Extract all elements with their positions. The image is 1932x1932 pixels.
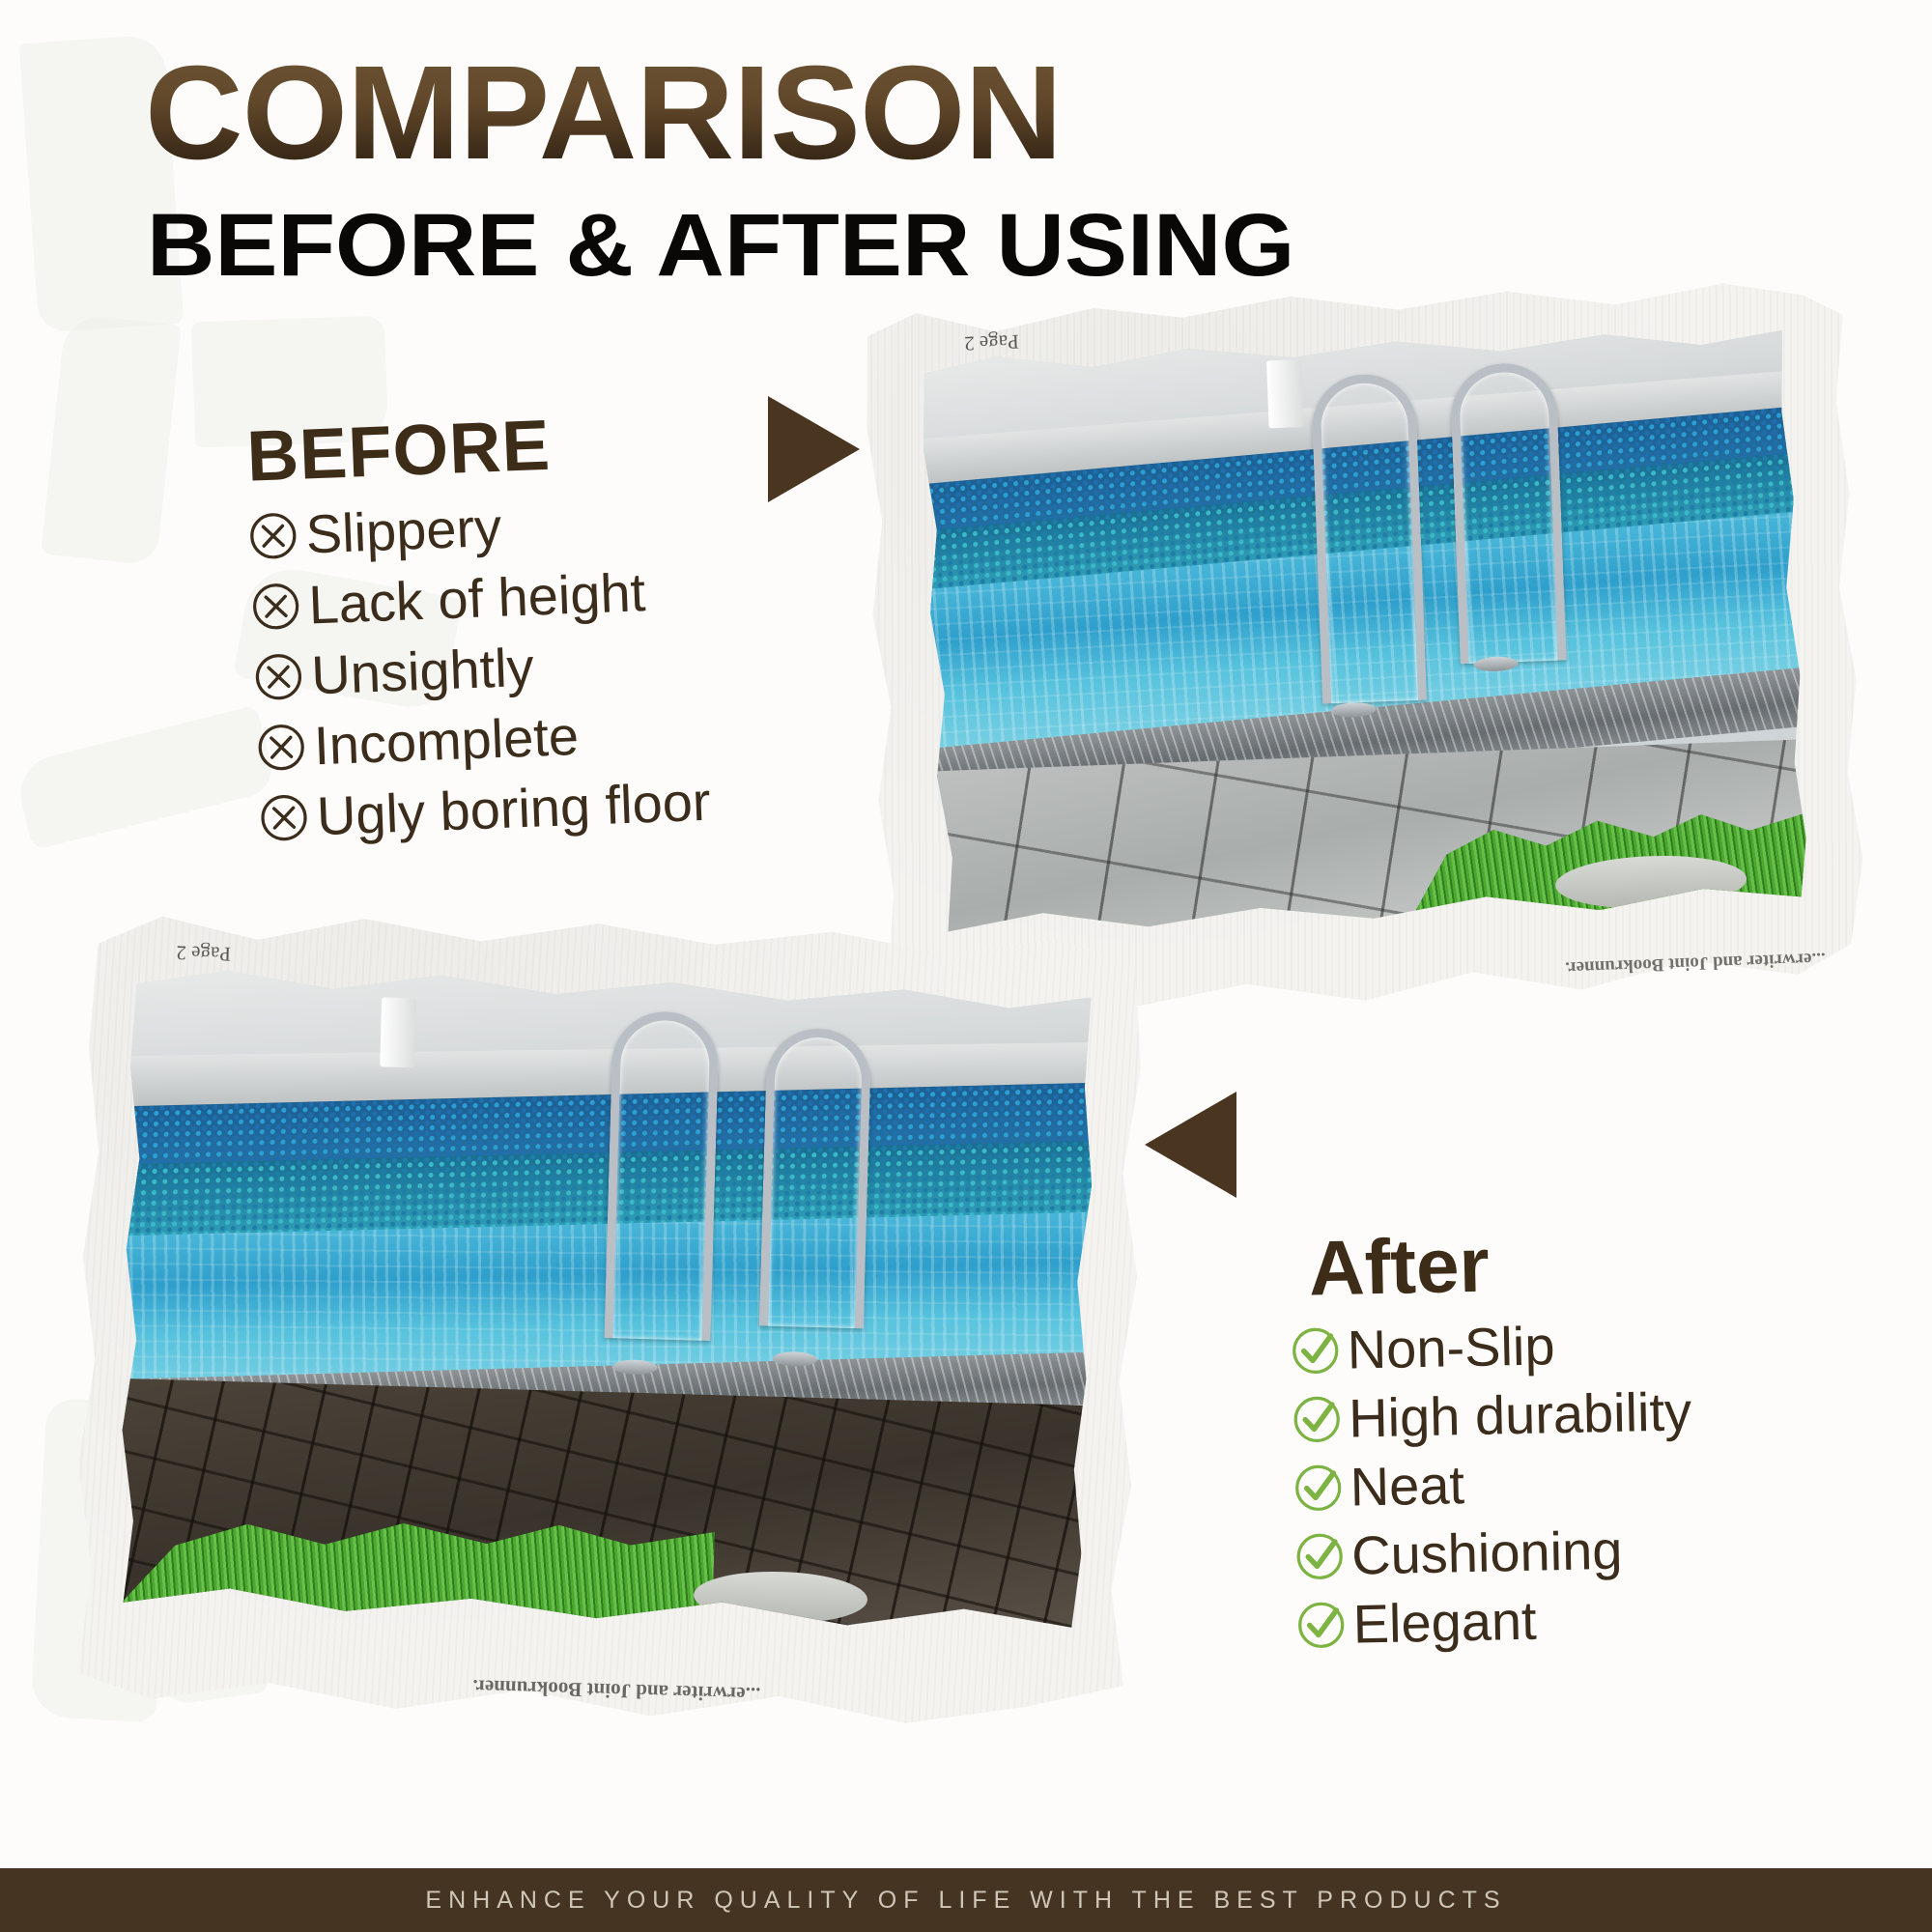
list-item: Cushioning (1292, 1517, 1695, 1588)
list-item-label: Lack of height (307, 560, 646, 636)
list-item: Non-Slip (1287, 1311, 1690, 1382)
paper-text-page-label: Page 2 (964, 329, 1019, 355)
pool-scene (919, 325, 1809, 941)
pool-handrail (1311, 373, 1427, 704)
list-item-label: High durability (1349, 1379, 1692, 1449)
background-brush-stroke (13, 705, 277, 850)
list-item: Unsightly (250, 629, 706, 709)
list-item-label: Elegant (1352, 1589, 1537, 1656)
list-item: Slippery (245, 488, 701, 568)
circle-check-icon (1290, 1459, 1347, 1516)
after-section: After Non-Slip High durability Neat (1285, 1216, 1696, 1662)
circle-check-icon (1287, 1321, 1344, 1378)
circle-check-icon (1289, 1390, 1346, 1447)
white-pipe (380, 997, 416, 1067)
circle-x-icon (256, 789, 312, 845)
circle-x-icon (245, 507, 301, 563)
list-item: High durability (1289, 1379, 1692, 1451)
bottom-banner: ENHANCE YOUR QUALITY OF LIFE WITH THE BE… (0, 1868, 1932, 1932)
list-item-label: Neat (1350, 1453, 1465, 1518)
arrow-right-icon (768, 396, 860, 502)
circle-check-icon (1292, 1527, 1349, 1584)
white-pipe (1266, 359, 1304, 428)
list-item-label: Slippery (305, 496, 503, 566)
paper-text-page-label: Page 2 (176, 940, 231, 966)
before-photo-card: Page 2 ...erwriter and Joint Bookrunner. (857, 272, 1867, 1023)
circle-check-icon (1293, 1596, 1350, 1653)
pool-handrail (759, 1027, 872, 1328)
after-heading: After (1308, 1216, 1690, 1313)
pool-scene (113, 964, 1096, 1638)
list-item: Ugly boring floor (256, 770, 712, 850)
before-section: BEFORE Slippery Lack of height Unsightly (241, 398, 712, 858)
list-item-label: Cushioning (1350, 1519, 1623, 1587)
list-item-label: Non-Slip (1347, 1314, 1555, 1380)
pool-handrail (1449, 362, 1566, 665)
pool-handrail (604, 1010, 719, 1341)
list-item: Neat (1290, 1448, 1693, 1520)
before-heading: BEFORE (245, 398, 698, 497)
after-list: Non-Slip High durability Neat Cushioning (1287, 1311, 1696, 1657)
list-item-label: Incomplete (313, 704, 580, 777)
page-title: COMPARISON (145, 46, 1062, 180)
banner-text: ENHANCE YOUR QUALITY OF LIFE WITH THE BE… (425, 1887, 1506, 1915)
list-item: Lack of height (247, 558, 703, 639)
list-item-label: Unsightly (310, 636, 535, 707)
list-item: Incomplete (253, 699, 709, 780)
background-brush-stroke (41, 313, 181, 565)
circle-x-icon (253, 719, 309, 775)
before-list: Slippery Lack of height Unsightly Incomp… (245, 488, 712, 850)
before-photo-image (919, 325, 1809, 941)
after-photo-card: Page 2 ...erwriter and Joint Bookrunner. (67, 903, 1151, 1734)
list-item: Elegant (1293, 1585, 1696, 1657)
arrow-left-icon (1145, 1092, 1236, 1198)
circle-x-icon (250, 648, 306, 704)
circle-x-icon (248, 578, 304, 634)
list-item-label: Ugly boring floor (316, 770, 712, 848)
page-subtitle: BEFORE & AFTER USING (147, 201, 1294, 290)
after-photo-image (113, 964, 1096, 1638)
